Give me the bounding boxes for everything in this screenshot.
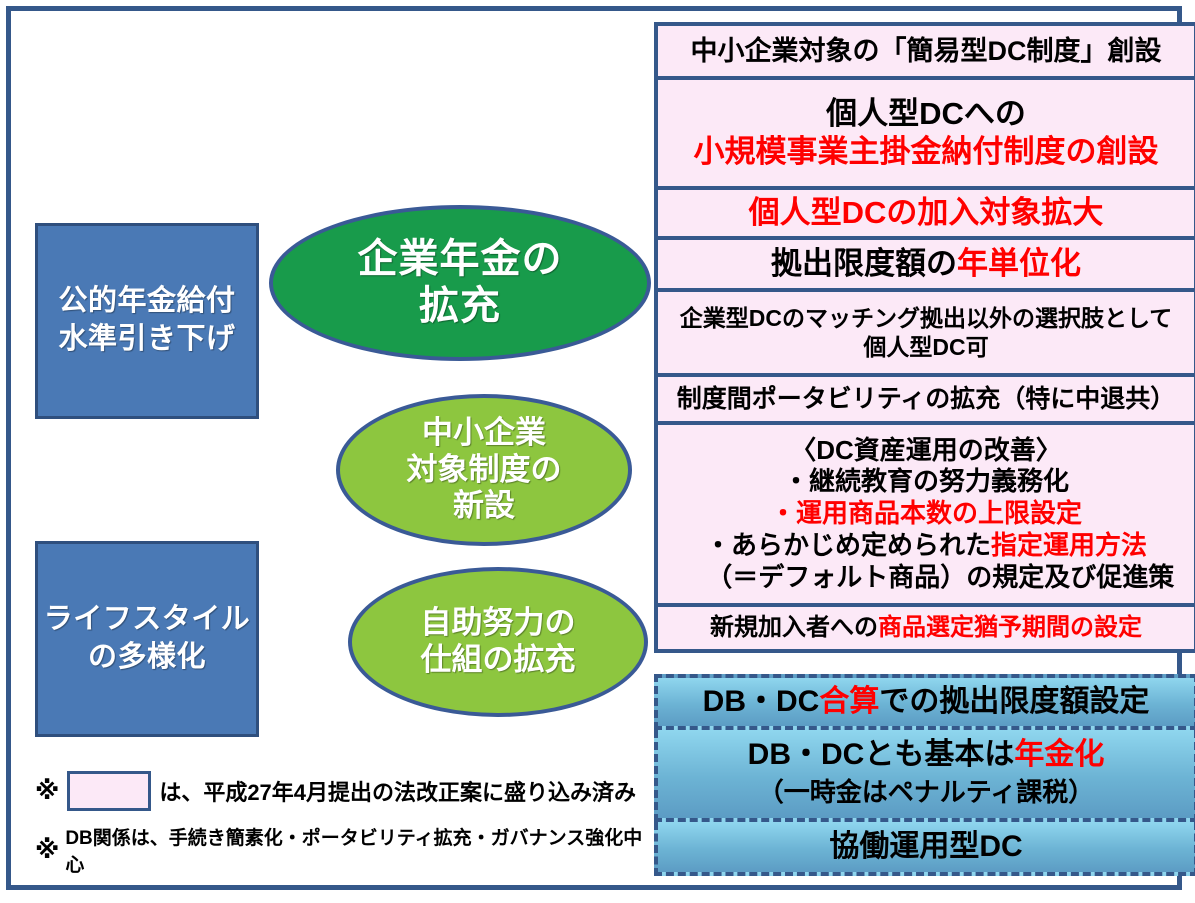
- ellipse-line1: 自助努力の: [421, 605, 576, 640]
- row-shinki-kanyusha: 新規加入者への商品選定猶予期間の設定: [658, 603, 1194, 649]
- row-text: 拠出限度額の: [771, 246, 957, 281]
- footnotes: ※ は、平成27年4月提出の法改正案に盛り込み済み ※ DB関係は、手続き簡素化…: [35, 771, 645, 877]
- ellipse-line2: 対象制度の: [407, 452, 562, 487]
- ellipse-line1: 中小企業: [422, 415, 546, 450]
- row-line: 中小企業対象の「簡易型DC制度」創設: [691, 35, 1162, 68]
- row-line: （＝デフォルト商品）の規定及び促進策: [678, 562, 1175, 594]
- row-text: （＝デフォルト商品）の規定及び促進策: [706, 562, 1174, 592]
- ellipse-line3: 新設: [453, 488, 515, 523]
- ellipse-line2: 仕組の拡充: [421, 642, 576, 677]
- row-line: DB・DCとも基本は年金化: [748, 737, 1105, 774]
- row-line: 企業型DCのマッチング拠出以外の選択肢として: [680, 304, 1173, 332]
- row-text: 協働運用型DC: [829, 830, 1022, 863]
- row-text: での拠出限度額設定: [879, 685, 1149, 718]
- legend-color-swatch: [67, 771, 151, 811]
- highlight-text: 商品選定猶予期間の設定: [878, 614, 1142, 641]
- highlight-text: 合算: [819, 685, 879, 718]
- diagram-frame: 公的年金給付 水準引き下げ ライフスタイル の多様化 企業年金の 拡充 中小企業…: [6, 6, 1182, 890]
- ellipse-line2: 拡充: [419, 284, 501, 328]
- blue-row-kyodo-unyo: 協働運用型DC: [654, 822, 1195, 876]
- footnote-legend-text: は、平成27年4月提出の法改正案に盛り込み済み: [159, 775, 636, 807]
- highlight-text: 指定運用方法: [991, 530, 1147, 560]
- measures-pink-stack: 中小企業対象の「簡易型DC制度」創設個人型DCへの小規模事業主掛金納付制度の創設…: [654, 22, 1195, 653]
- row-line: 制度間ポータビリティの拡充（特に中退共）: [677, 384, 1176, 415]
- row-line: ・運用商品本数の上限設定: [770, 498, 1082, 530]
- reference-mark-icon: ※: [35, 838, 59, 863]
- row-text: 個人型DC可: [863, 334, 988, 360]
- highlight-text: 年単位化: [957, 246, 1081, 281]
- row-text: DB・DC: [703, 685, 820, 718]
- row-text: DB・DCとも基本は: [748, 738, 1015, 771]
- row-portability: 制度間ポータビリティの拡充（特に中退共）: [658, 373, 1194, 421]
- highlight-text: ・運用商品本数の上限設定: [770, 498, 1082, 528]
- row-line: 拠出限度額の年単位化: [771, 245, 1081, 283]
- row-kojingata-kanyu-kakudai: 個人型DCの加入対象拡大: [658, 186, 1194, 236]
- ellipse-line1: 企業年金の: [358, 237, 563, 281]
- row-dc-shisan-unyo: 〈DC資産運用の改善〉・継続教育の努力義務化・運用商品本数の上限設定・あらかじめ…: [658, 421, 1194, 603]
- row-text: 〈DC資産運用の改善〉: [790, 435, 1062, 465]
- row-line: 個人型DCへの: [826, 95, 1026, 133]
- row-text: 中小企業対象の「簡易型DC制度」創設: [691, 36, 1162, 66]
- footnote-db-text: DB関係は、手続き簡素化・ポータビリティ拡充・ガバナンス強化中心: [65, 823, 645, 877]
- ellipse-corporate-pension-expansion: 企業年金の 拡充: [269, 205, 651, 361]
- row-line: 個人型DC可: [863, 333, 988, 361]
- row-text: （一時金はペナルティ課税）: [758, 777, 1094, 807]
- footnote-legend: ※ は、平成27年4月提出の法改正案に盛り込み済み: [35, 771, 645, 811]
- driver-box-line2: 水準引き下げ: [58, 323, 235, 355]
- row-line: 〈DC資産運用の改善〉: [790, 435, 1062, 467]
- row-line: 小規模事業主掛金納付制度の創設: [694, 133, 1159, 171]
- row-text: 制度間ポータビリティの拡充（特に中退共）: [677, 385, 1176, 413]
- row-line: DB・DC合算での拠出限度額設定: [703, 684, 1150, 721]
- row-kan-i-dc: 中小企業対象の「簡易型DC制度」創設: [658, 26, 1194, 76]
- row-text: 個人型DCへの: [826, 96, 1026, 131]
- row-kojingata-dc-kakekin: 個人型DCへの小規模事業主掛金納付制度の創設: [658, 76, 1194, 186]
- driver-box-line1: ライフスタイル: [44, 603, 251, 635]
- measures-blue-stack: DB・DC合算での拠出限度額設定DB・DCとも基本は年金化（一時金はペナルティ課…: [654, 674, 1195, 876]
- ellipse-self-help-expansion: 自助努力の 仕組の拡充: [348, 567, 648, 717]
- row-text: 新規加入者への: [710, 614, 878, 641]
- row-line: 新規加入者への商品選定猶予期間の設定: [710, 613, 1142, 642]
- row-line: 協働運用型DC: [829, 829, 1022, 866]
- highlight-text: 年金化: [1014, 738, 1104, 771]
- row-line: （一時金はペナルティ課税）: [758, 774, 1094, 811]
- row-text: ・あらかじめ定められた: [705, 530, 991, 560]
- row-text: 企業型DCのマッチング拠出以外の選択肢として: [680, 305, 1173, 331]
- row-line: ・継続教育の努力義務化: [783, 466, 1069, 498]
- ellipse-sme-new-system: 中小企業 対象制度の 新設: [336, 394, 632, 546]
- driver-box-line2: の多様化: [88, 641, 206, 673]
- footnote-db: ※ DB関係は、手続き簡素化・ポータビリティ拡充・ガバナンス強化中心: [35, 823, 645, 877]
- row-text: ・継続教育の努力義務化: [783, 466, 1069, 496]
- blue-row-nenkinka: DB・DCとも基本は年金化（一時金はペナルティ課税）: [654, 730, 1195, 822]
- blue-row-gassan: DB・DC合算での拠出限度額設定: [654, 674, 1195, 730]
- row-line: ・あらかじめ定められた指定運用方法: [705, 530, 1147, 562]
- row-kyoshutsu-gendogaku: 拠出限度額の年単位化: [658, 236, 1194, 288]
- highlight-text: 小規模事業主掛金納付制度の創設: [694, 134, 1159, 169]
- highlight-text: 個人型DCの加入対象拡大: [749, 195, 1104, 230]
- driver-box-public-pension: 公的年金給付 水準引き下げ: [35, 223, 259, 419]
- row-line: 個人型DCの加入対象拡大: [749, 194, 1104, 232]
- driver-box-line1: 公的年金給付: [58, 285, 235, 317]
- row-kigyogata-matching: 企業型DCのマッチング拠出以外の選択肢として個人型DC可: [658, 288, 1194, 373]
- driver-box-lifestyle: ライフスタイル の多様化: [35, 541, 259, 737]
- reference-mark-icon: ※: [35, 779, 59, 804]
